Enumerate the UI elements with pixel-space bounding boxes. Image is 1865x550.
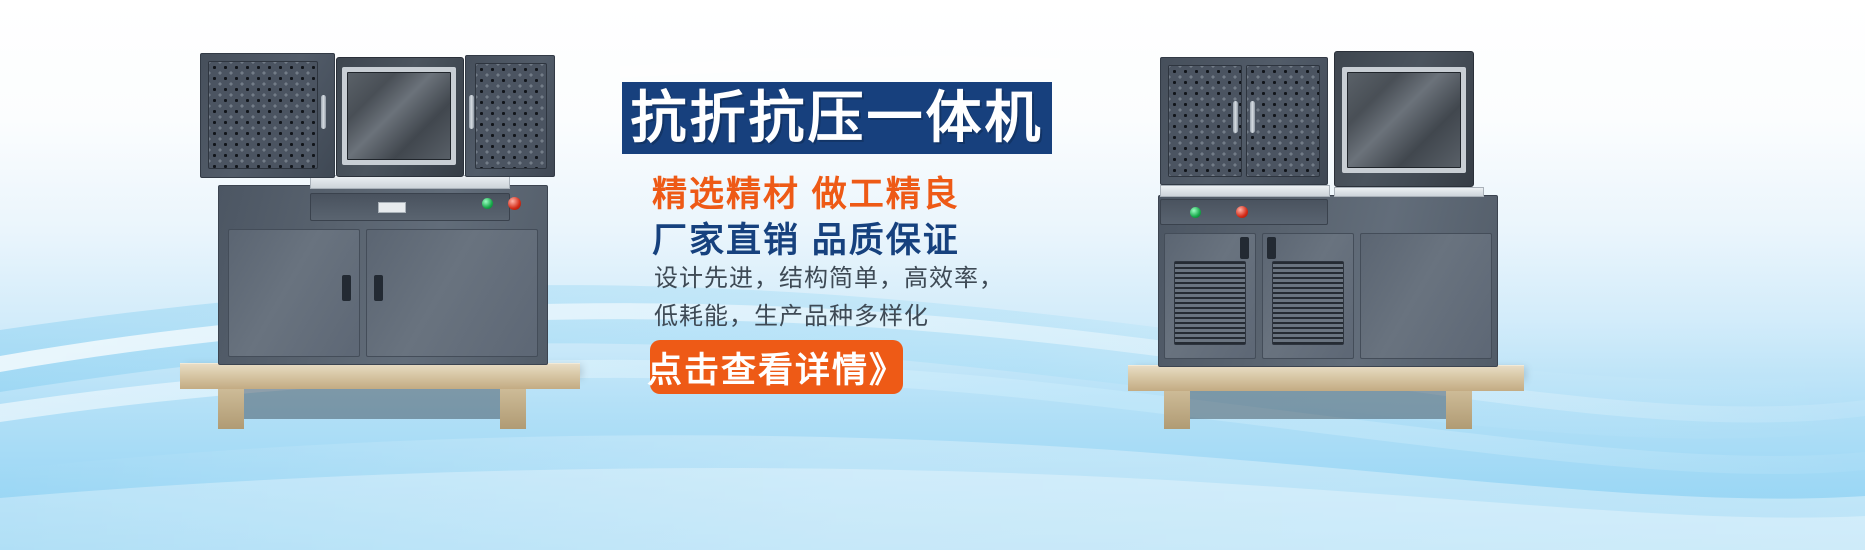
lower-door-left[interactable] — [228, 229, 360, 357]
lower-door-handle-right-a[interactable] — [1240, 237, 1249, 259]
promo-banner: 抗折抗压一体机 精选精材 做工精良 厂家直销 品质保证 设计先进，结构简单，高效… — [0, 0, 1865, 550]
lower-door-right[interactable] — [366, 229, 538, 357]
power-led-green-right[interactable] — [1190, 207, 1201, 218]
control-drawer-left[interactable] — [310, 193, 510, 221]
tagline-orange: 精选精材 做工精良 — [652, 166, 960, 217]
lower-door-handle-right-b[interactable] — [1267, 237, 1276, 259]
vent-grille-b — [1272, 261, 1344, 345]
view-details-button[interactable]: 点击查看详情》 — [650, 340, 903, 394]
pallet-gap-shadow-left — [244, 389, 500, 419]
cabinet-handle-left[interactable] — [321, 95, 326, 129]
description-line-2: 低耗能，生产品种多样化 — [654, 296, 929, 331]
stop-led-red-left[interactable] — [508, 197, 521, 210]
product-image-right — [1120, 45, 1540, 430]
pallet-gap-shadow-right — [1190, 391, 1446, 419]
tagline-blue: 厂家直销 品质保证 — [652, 212, 960, 263]
power-led-green-left[interactable] — [482, 198, 493, 209]
pallet-leg-left-2 — [500, 389, 526, 429]
description-line-1: 设计先进，结构简单，高效率， — [654, 258, 1004, 293]
lower-door-handle-right[interactable] — [374, 275, 383, 301]
perforated-panel-left — [208, 61, 318, 169]
monitor-screen-left[interactable] — [347, 72, 451, 160]
lower-door-right-c[interactable] — [1360, 233, 1492, 359]
cabinet-handle-right[interactable] — [469, 95, 474, 129]
page-title: 抗折抗压一体机 — [631, 90, 1044, 146]
pallet-right — [1128, 365, 1524, 391]
pallet-leg-right-1 — [1164, 391, 1190, 429]
perforated-door-handle-b[interactable] — [1250, 101, 1255, 133]
lower-door-handle-left[interactable] — [342, 275, 351, 301]
perforated-door-b[interactable] — [1246, 65, 1320, 177]
headline-bar: 抗折抗压一体机 — [622, 82, 1052, 154]
deck-strip-left — [310, 175, 510, 189]
monitor-base-strip-right — [1334, 187, 1484, 197]
perforated-panel-right — [475, 63, 547, 169]
perforated-door-handle-a[interactable] — [1233, 101, 1238, 133]
pallet-left — [180, 363, 580, 389]
stop-led-red-right[interactable] — [1236, 206, 1248, 218]
vent-grille-a — [1174, 261, 1246, 345]
monitor-screen-right[interactable] — [1347, 72, 1461, 168]
pallet-leg-left-1 — [218, 389, 244, 429]
pallet-leg-right-2 — [1446, 391, 1472, 429]
view-details-button-label: 点击查看详情》 — [647, 342, 906, 393]
perforated-door-a[interactable] — [1168, 65, 1242, 177]
product-image-left — [170, 45, 600, 430]
drawer-label-plate-left — [378, 202, 406, 213]
deck-strip-right — [1160, 185, 1330, 197]
